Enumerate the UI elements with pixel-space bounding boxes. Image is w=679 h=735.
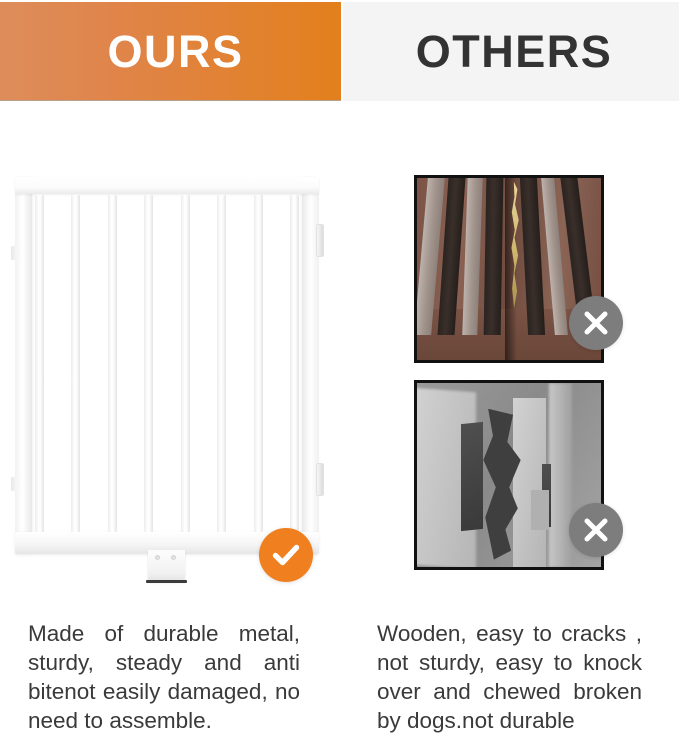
captions-row: Made of durable metal, sturdy, steady an… — [0, 600, 679, 728]
gate-bars — [35, 195, 299, 532]
gate-bar — [144, 195, 153, 532]
check-icon — [269, 538, 303, 572]
metal-bracket — [531, 490, 549, 530]
gate-bar — [71, 195, 80, 532]
banner-others: OTHERS — [343, 2, 679, 101]
ours-panel — [0, 103, 343, 600]
caption-ours: Made of durable metal, sturdy, steady an… — [28, 619, 300, 735]
check-badge — [259, 528, 313, 582]
bracket-hole-right — [171, 555, 176, 560]
others-panel — [343, 103, 679, 600]
gate-frame-left — [15, 177, 32, 554]
x-icon — [580, 307, 612, 339]
gate-latch-top — [11, 246, 17, 260]
door-gap-shadow — [461, 422, 483, 531]
white-metal-gate-image — [15, 177, 319, 554]
gate-latch-bottom — [11, 477, 17, 491]
comparison-header: OURS OTHERS — [0, 0, 679, 103]
gate-bar — [35, 195, 44, 532]
gate-bar — [108, 195, 117, 532]
gate-bar — [254, 195, 263, 532]
gate-bar — [217, 195, 226, 532]
gate-bar — [181, 195, 190, 532]
gate-mounting-bracket — [148, 550, 185, 582]
gate-slat — [484, 178, 503, 335]
banner-others-label: OTHERS — [410, 29, 613, 74]
door-frame-panel — [513, 398, 546, 567]
gate-bracket-base — [146, 580, 187, 583]
banner-ours: OURS — [0, 2, 341, 101]
background-post — [549, 383, 571, 567]
x-icon — [580, 514, 612, 546]
x-badge-top — [569, 296, 623, 350]
banner-ours-label: OURS — [97, 29, 243, 74]
gate-bar — [290, 195, 299, 532]
gate-hinge-bottom — [316, 463, 324, 496]
gate-hinge-top — [316, 224, 324, 257]
gate-frame-top — [15, 177, 319, 194]
x-badge-bottom — [569, 503, 623, 557]
bracket-hole-left — [155, 555, 160, 560]
caption-others: Wooden, easy to cracks , not sturdy, eas… — [377, 619, 642, 735]
